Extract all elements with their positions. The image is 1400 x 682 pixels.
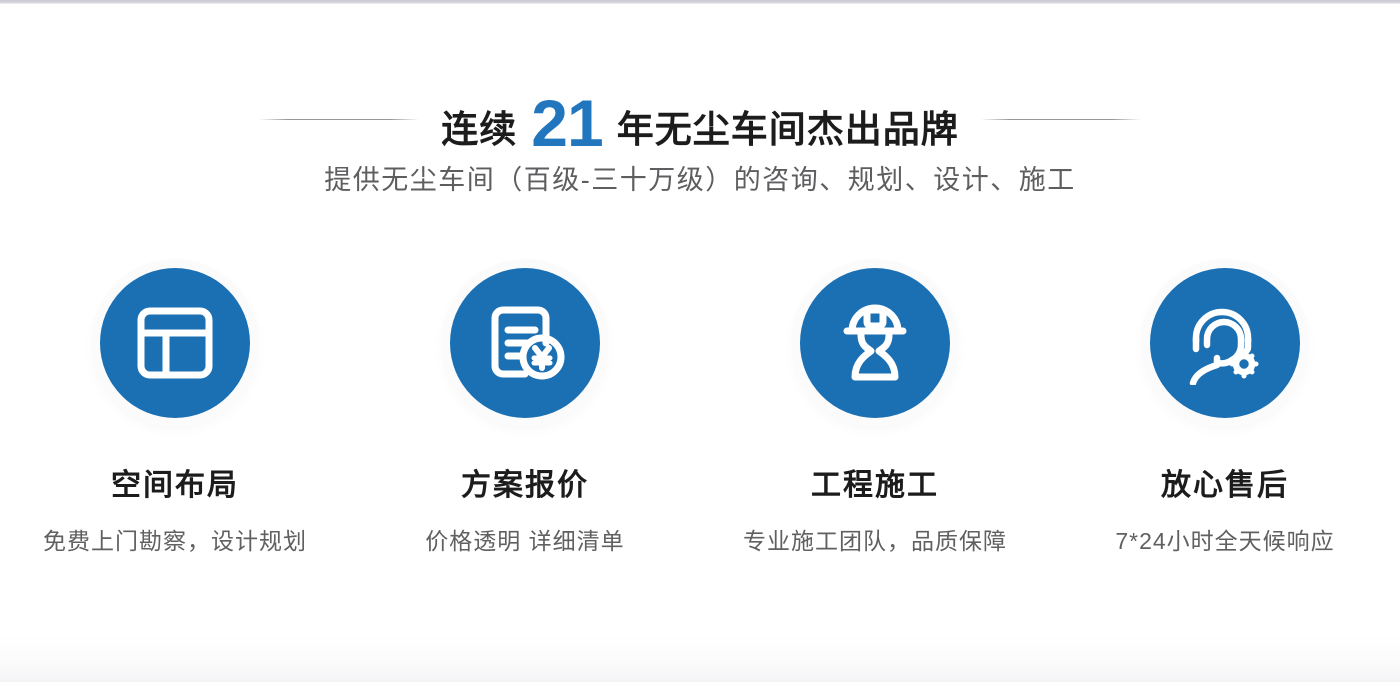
headline-rule-left [259,119,419,120]
feature-description: 7*24小时全天候响应 [1115,522,1334,556]
layout-grid-icon [133,301,217,385]
feature-icon-badge [450,268,600,418]
page-subtitle: 提供无尘车间（百级-三十万级）的咨询、规划、设计、施工 [0,158,1400,197]
feature-title: 放心售后 [1161,460,1289,504]
headline-prefix: 连续 [441,111,517,148]
feature-title: 方案报价 [461,460,589,504]
feature-description: 专业施工团队，品质保障 [743,522,1007,556]
headline-rule-right [981,119,1141,120]
feature-description: 免费上门勘察，设计规划 [43,522,307,556]
top-divider-strip [0,0,1400,4]
page-title: 连续 21 年无尘车间杰出品牌 [419,86,980,152]
feature-description: 价格透明 详细清单 [425,522,624,556]
feature-icon-badge [100,268,250,418]
feature-item-quotation[interactable]: 方案报价 价格透明 详细清单 [350,268,700,556]
headline-years-number: 21 [531,90,602,156]
headset-support-gear-icon [1183,301,1267,385]
feature-icon-badge [800,268,950,418]
feature-item-construction[interactable]: 工程施工 专业施工团队，品质保障 [700,268,1050,556]
document-yuan-quote-icon [483,301,567,385]
feature-list: 空间布局 免费上门勘察，设计规划 [0,268,1400,556]
construction-worker-icon [833,301,917,385]
service-highlights-banner: 连续 21 年无尘车间杰出品牌 提供无尘车间（百级-三十万级）的咨询、规划、设计… [0,0,1400,682]
headline-row: 连续 21 年无尘车间杰出品牌 [0,88,1400,150]
feature-title: 工程施工 [811,460,939,504]
feature-icon-badge [1150,268,1300,418]
feature-item-space-layout[interactable]: 空间布局 免费上门勘察，设计规划 [0,268,350,556]
headline-suffix: 年无尘车间杰出品牌 [617,111,959,148]
feature-item-after-sales[interactable]: 放心售后 7*24小时全天候响应 [1050,268,1400,556]
feature-title: 空间布局 [111,460,239,504]
